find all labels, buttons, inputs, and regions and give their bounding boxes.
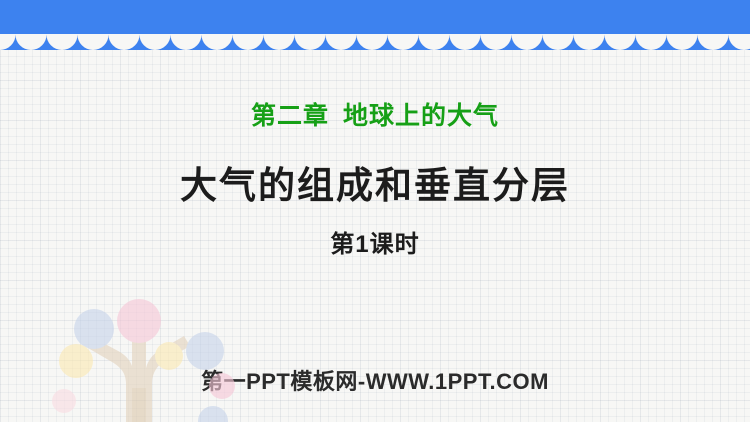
background-grid-coarse bbox=[0, 0, 750, 422]
leaf-circle-blue-1 bbox=[74, 309, 114, 349]
scalloped-edge bbox=[0, 34, 750, 50]
lesson-subtitle: 第1课时 bbox=[0, 224, 750, 259]
leaf-circle-pink-1 bbox=[117, 299, 161, 343]
header-band bbox=[0, 0, 750, 34]
background-grid-fine bbox=[0, 0, 750, 422]
tree-decoration bbox=[38, 288, 208, 422]
chapter-heading: 第二章地球上的大气 bbox=[0, 96, 750, 132]
page-title: 大气的组成和垂直分层 bbox=[0, 155, 750, 209]
chapter-number: 第二章 bbox=[251, 102, 329, 130]
leaf-circles-group bbox=[52, 299, 235, 422]
ppt-title-slide: 第二章地球上的大气 大气的组成和垂直分层 第1课时 第一PPT模板网-WWW.1… bbox=[0, 0, 750, 422]
footer-credit: 第一PPT模板网-WWW.1PPT.COM bbox=[0, 364, 750, 396]
chapter-name: 地球上的大气 bbox=[343, 102, 499, 130]
leaf-circle-blue-3 bbox=[198, 406, 228, 422]
